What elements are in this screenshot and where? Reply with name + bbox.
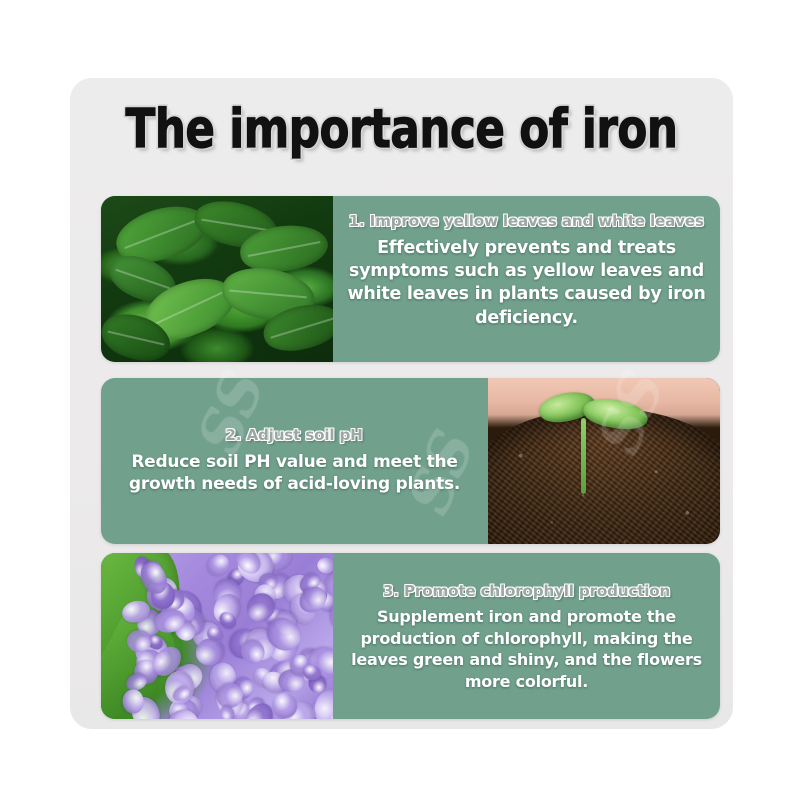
benefit-panel-2: 2. Adjust soil pH Reduce soil PH value a… [101,378,720,544]
benefit-1-content: 1. Improve yellow leaves and white leave… [333,196,720,362]
benefit-1-body: Effectively prevents and treats symptoms… [343,237,710,331]
benefit-2-heading: 2. Adjust soil pH [226,426,363,445]
benefit-3-heading: 3. Promote chlorophyll production [383,582,670,601]
poster-title-area: The importance of iron [70,106,733,151]
hydrangea-image [101,553,333,719]
soil-mound-shape [488,408,720,544]
green-leaves-photo [101,196,333,362]
benefit-panel-3: 3. Promote chlorophyll production Supple… [101,553,720,719]
benefit-panel-1: 1. Improve yellow leaves and white leave… [101,196,720,362]
infographic-card: SS SS SS The importance of iron [70,78,733,729]
leaves-image [101,196,333,362]
page-title: The importance of iron [126,102,678,155]
sprout-stem-shape [581,418,586,494]
benefit-1-heading: 1. Improve yellow leaves and white leave… [349,212,704,231]
purple-hydrangea-photo [101,553,333,719]
benefit-3-content: 3. Promote chlorophyll production Supple… [333,553,720,719]
poster-canvas: SS SS SS The importance of iron [0,0,800,800]
benefit-2-body: Reduce soil PH value and meet the growth… [111,451,478,496]
benefit-3-body: Supplement iron and promote the producti… [343,606,710,692]
benefit-2-content: 2. Adjust soil pH Reduce soil PH value a… [101,378,488,544]
seedling-in-soil-photo [488,378,720,544]
soil-image [488,378,720,544]
